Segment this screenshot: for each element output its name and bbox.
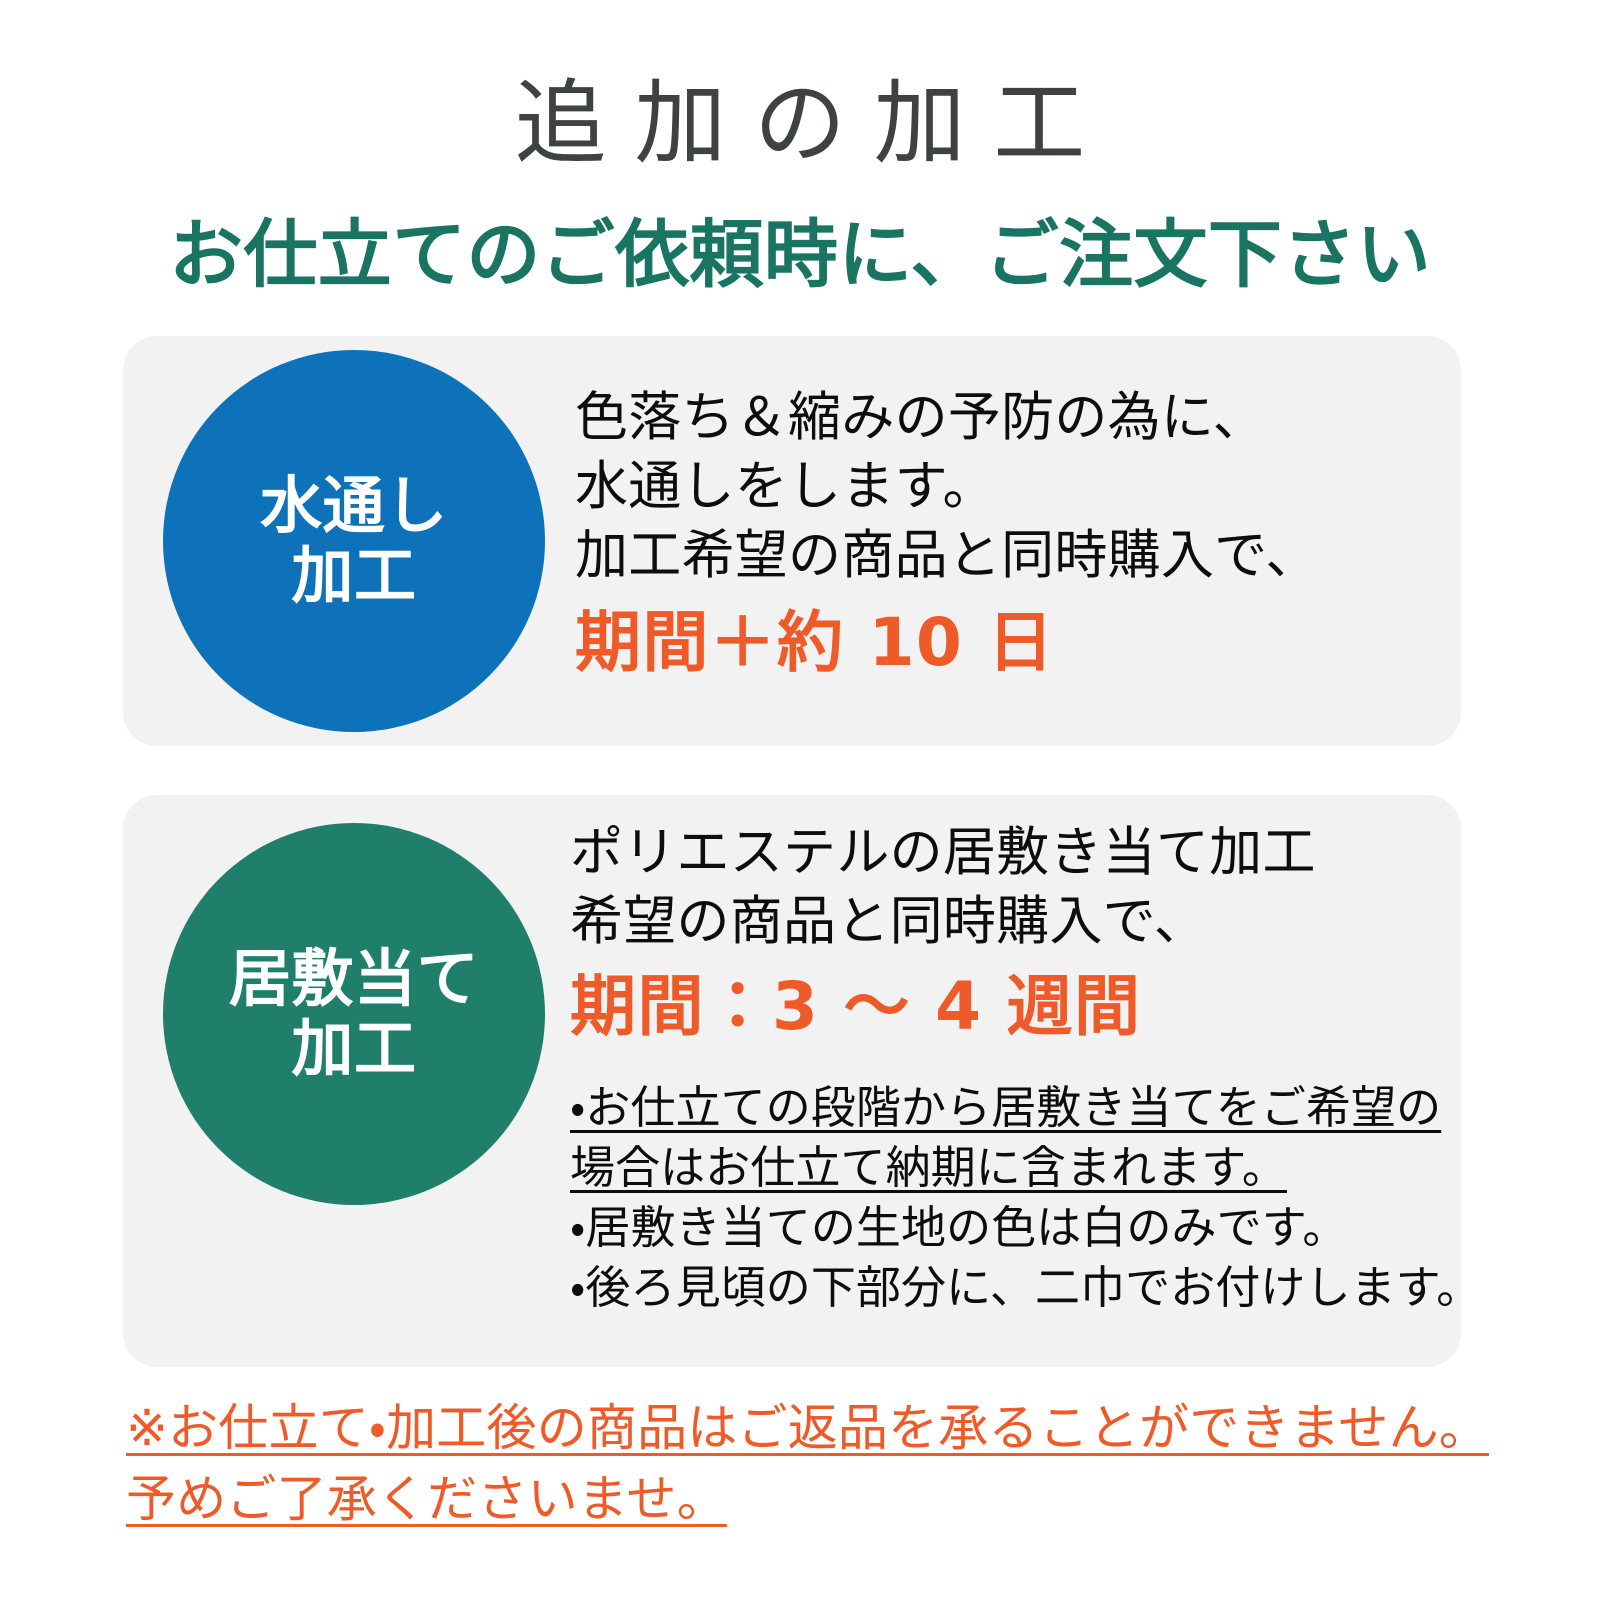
badge-label-line-1: 水通し: [260, 471, 448, 541]
body-line: 希望の商品と同時購入で、: [570, 888, 1316, 957]
warning-row: 予めご了承くださいませ。: [126, 1464, 1526, 1535]
warning-row: ※お仕立て・加工後の商品はご返品を承ることができません。: [126, 1393, 1526, 1464]
warning-line-1: ※お仕立て・加工後の商品はご返品を承ることができません。: [126, 1393, 1489, 1464]
list-item: ・お仕立ての段階から居敷き当てをご希望の: [570, 1078, 1481, 1138]
card-ishikiate: 居敷当て 加工 ポリエステルの居敷き当て加工 希望の商品と同時購入で、 期間：3…: [123, 795, 1461, 1367]
warning-line-2: 予めご了承くださいませ。: [126, 1464, 727, 1535]
infographic-page: 追加の加工 お仕立てのご依頼時に、ご注文下さい 水通し 加工 色落ち＆縮みの予防…: [0, 0, 1600, 1600]
ishikiate-note-list: ・お仕立ての段階から居敷き当てをご希望の 場合はお仕立て納期に含まれます。 ・居…: [570, 1078, 1481, 1317]
card-body-mizutoshi: 色落ち＆縮みの予防の為に、 水通しをします。 加工希望の商品と同時購入で、 期間…: [575, 384, 1319, 686]
badge-label-line-2: 加工: [291, 541, 416, 611]
body-line: 加工希望の商品と同時購入で、: [575, 522, 1319, 591]
lead-time-emphasis: 期間＋約 10 日: [575, 599, 1319, 687]
list-item: ・後ろ見頃の下部分に、二巾でお付けします。: [570, 1258, 1481, 1318]
return-policy-warning: ※お仕立て・加工後の商品はご返品を承ることができません。 予めご了承くださいませ…: [126, 1393, 1526, 1535]
card-mizutoshi: 水通し 加工 色落ち＆縮みの予防の為に、 水通しをします。 加工希望の商品と同時…: [123, 336, 1461, 746]
page-subtitle: お仕立てのご依頼時に、ご注文下さい: [0, 218, 1600, 292]
body-line: 色落ち＆縮みの予防の為に、: [575, 384, 1319, 453]
list-item: 場合はお仕立て納期に含まれます。: [570, 1138, 1481, 1198]
badge-mizutoshi: 水通し 加工: [163, 350, 545, 732]
lead-time-emphasis: 期間：3 〜 4 週間: [570, 963, 1316, 1051]
badge-ishikiate: 居敷当て 加工: [163, 823, 545, 1205]
page-title: 追加の加工: [0, 78, 1600, 170]
badge-label-line-2: 加工: [291, 1014, 416, 1084]
badge-label-line-1: 居敷当て: [229, 944, 479, 1014]
body-line: 水通しをします。: [575, 453, 1319, 522]
body-line: ポリエステルの居敷き当て加工: [570, 819, 1316, 888]
list-item: ・居敷き当ての生地の色は白のみです。: [570, 1198, 1481, 1258]
card-body-ishikiate: ポリエステルの居敷き当て加工 希望の商品と同時購入で、 期間：3 〜 4 週間: [570, 819, 1316, 1051]
